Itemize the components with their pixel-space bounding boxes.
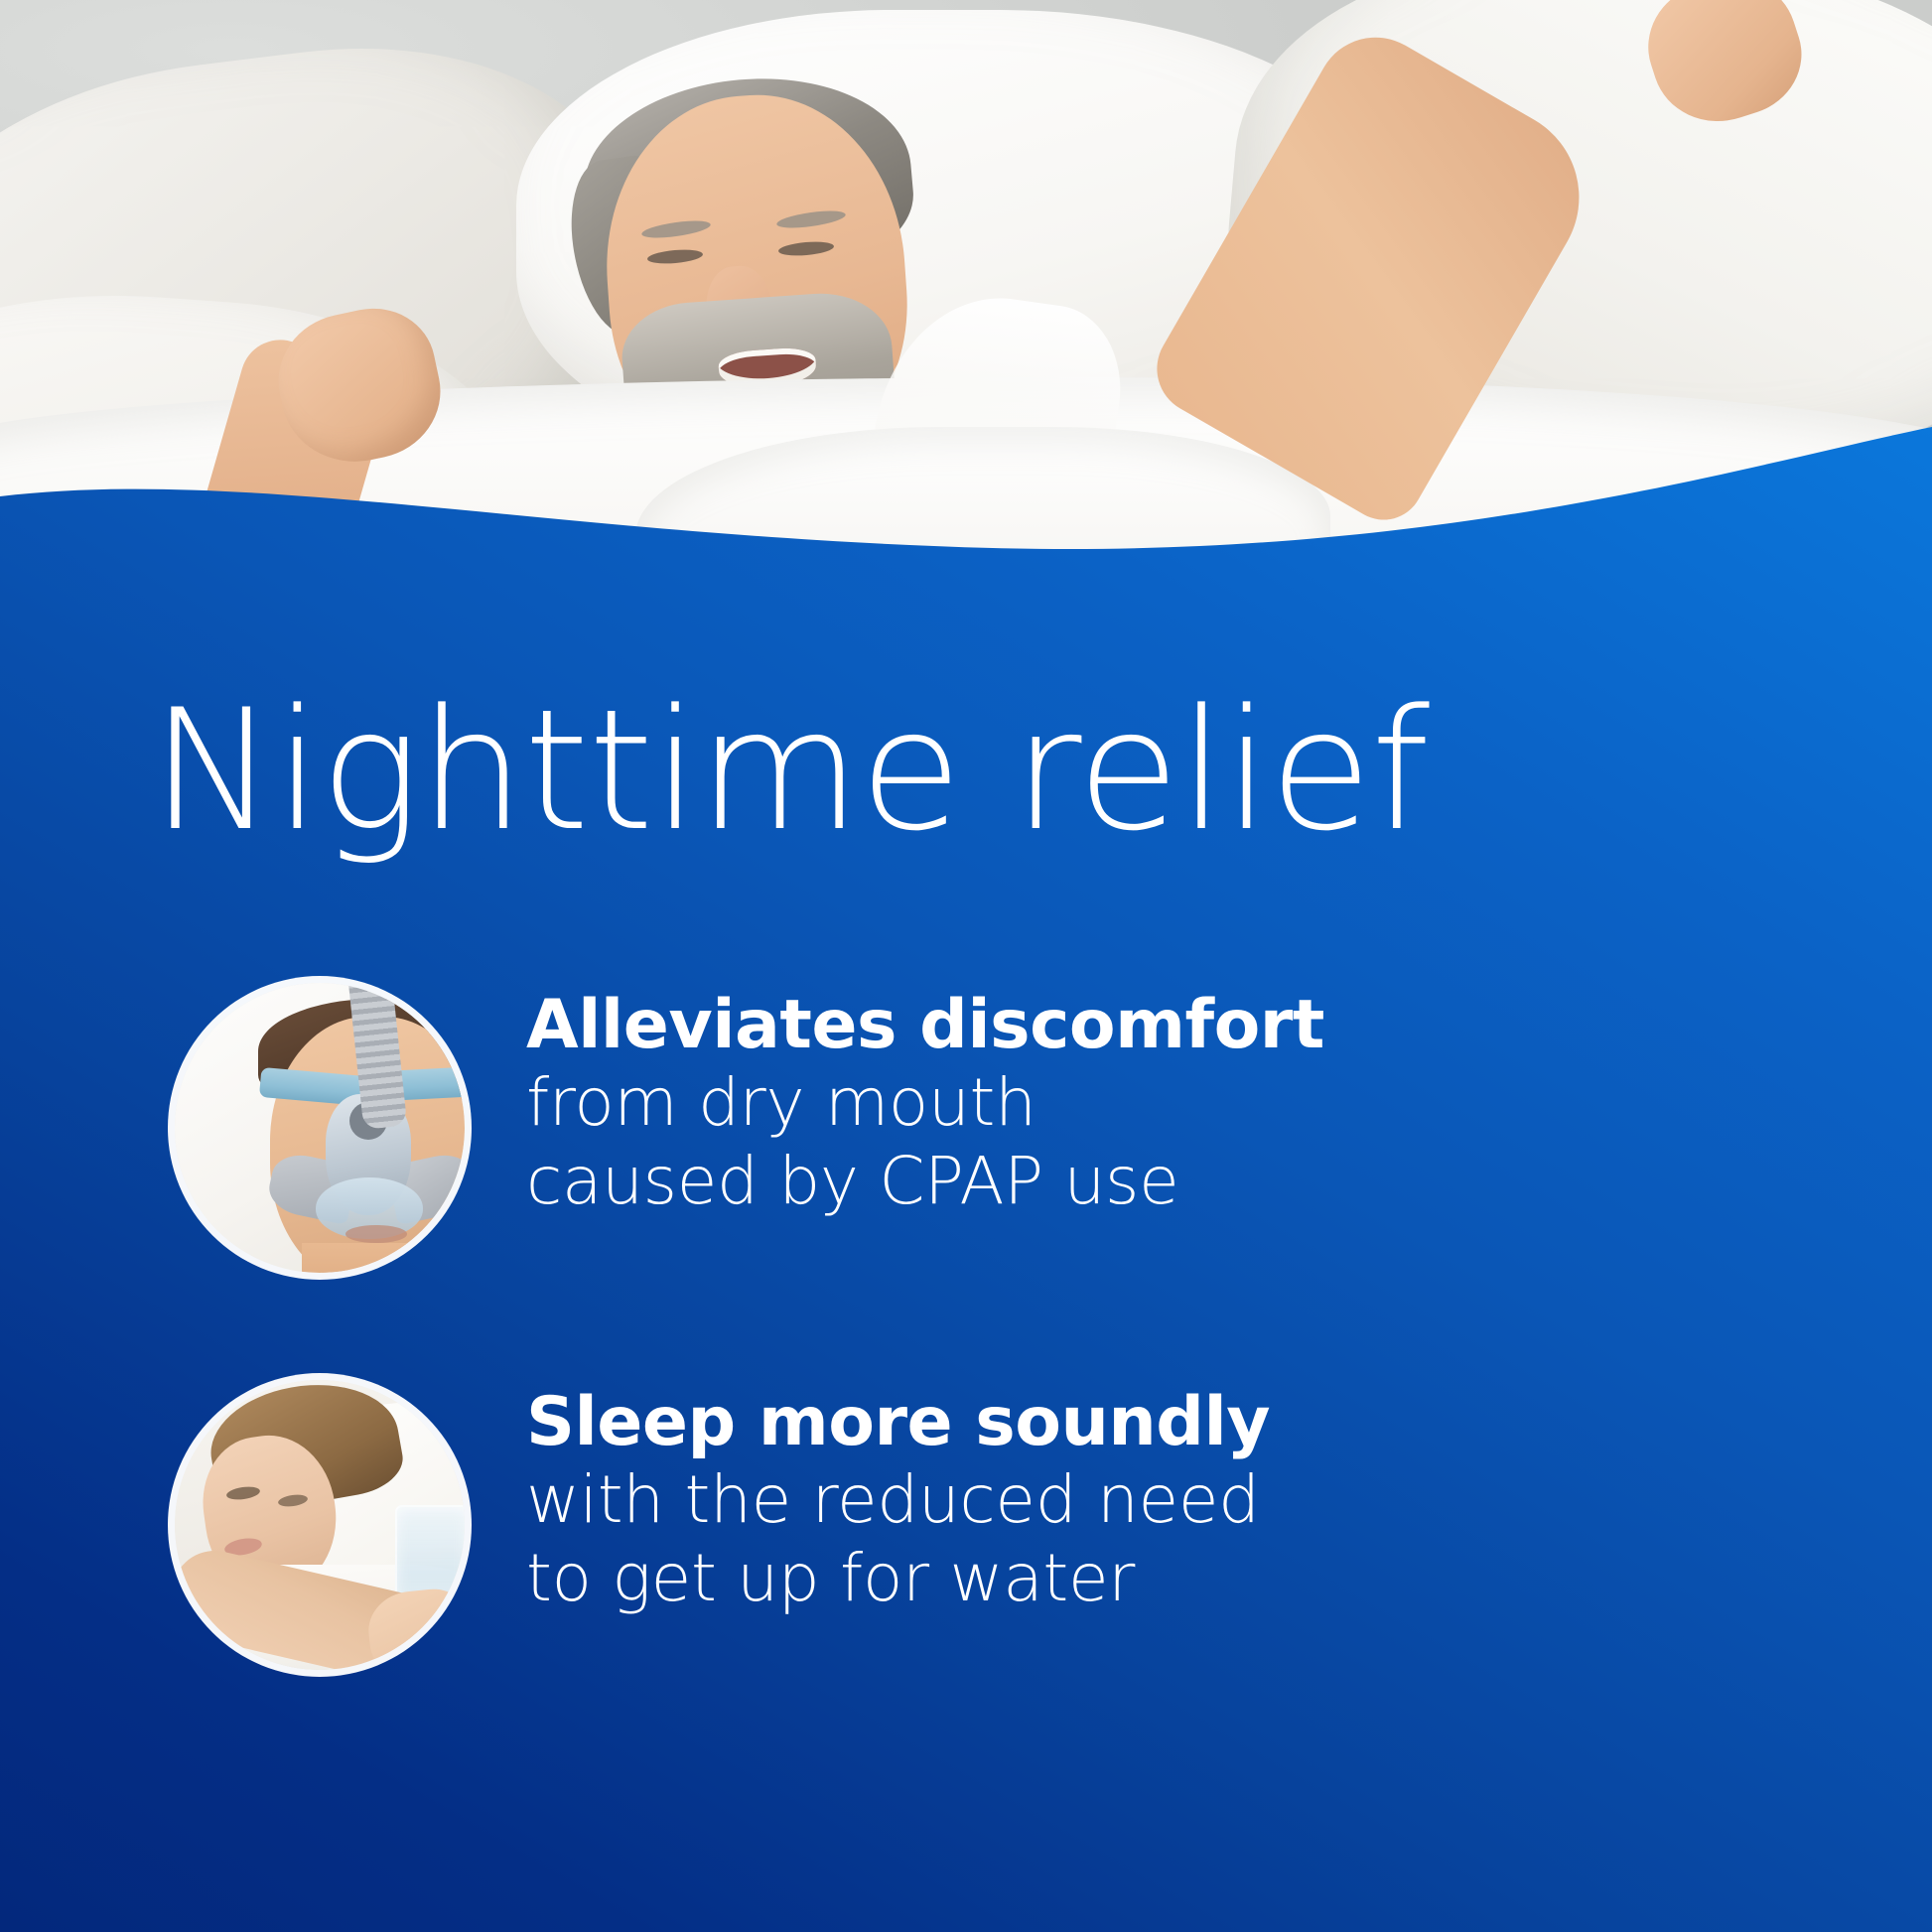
- benefit-body-line: to get up for water: [526, 1539, 1270, 1617]
- promo-poster: Nighttime relief Alleviates discomfort: [0, 0, 1932, 1932]
- benefit-heading: Sleep more soundly: [526, 1386, 1270, 1460]
- benefit-body: from dry mouth caused by CPAP use: [526, 1063, 1324, 1220]
- page-title: Nighttime relief: [151, 687, 1429, 854]
- water-glass-thumbnail: [175, 1380, 465, 1670]
- cpap-user-mouth: [345, 1225, 407, 1243]
- benefit-item: Sleep more soundly with the reduced need…: [175, 1380, 1270, 1670]
- cpap-mask-thumbnail: [175, 983, 465, 1273]
- benefit-text: Alleviates discomfort from dry mouth cau…: [526, 983, 1324, 1220]
- benefit-body: with the reduced need to get up for wate…: [526, 1460, 1270, 1617]
- benefit-body-line: from dry mouth: [526, 1063, 1324, 1142]
- benefit-heading: Alleviates discomfort: [526, 989, 1324, 1063]
- benefit-body-line: caused by CPAP use: [526, 1142, 1324, 1220]
- cpap-user-chin: [302, 1243, 457, 1273]
- benefit-item: Alleviates discomfort from dry mouth cau…: [175, 983, 1324, 1273]
- benefit-text: Sleep more soundly with the reduced need…: [526, 1380, 1270, 1617]
- benefit-body-line: with the reduced need: [526, 1460, 1270, 1539]
